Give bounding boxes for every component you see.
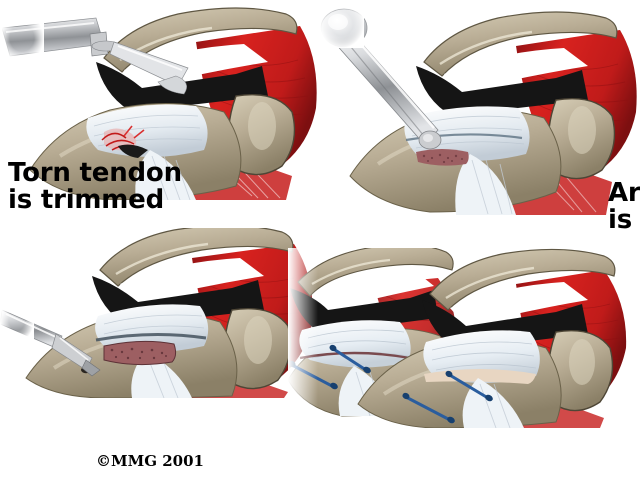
- copyright-notice: ©MMG 2001: [96, 452, 204, 470]
- panel-humerus-roughened: Area of the humerus is roughened: [320, 0, 640, 215]
- panel-4-artwork: [288, 248, 640, 428]
- caption-panel-2: Area of the humerus is roughened: [608, 180, 640, 234]
- panel-3-artwork: [0, 228, 320, 398]
- caption-panel-1: Torn tendon is trimmed: [8, 160, 182, 214]
- roughened-bone-area: [416, 149, 469, 166]
- illustration-canvas: Torn tendon is trimmed: [0, 0, 640, 480]
- panel-torn-tendon-trimmed: Torn tendon is trimmed: [0, 0, 320, 200]
- drilled-bone-trough: [104, 341, 176, 364]
- panel-holes-drilled: Holes drilled for sutures: [0, 228, 320, 398]
- panel-sutures-attach-tendon: Sutures attach tendon to bone: [288, 248, 640, 428]
- panel-2-artwork: [320, 0, 640, 215]
